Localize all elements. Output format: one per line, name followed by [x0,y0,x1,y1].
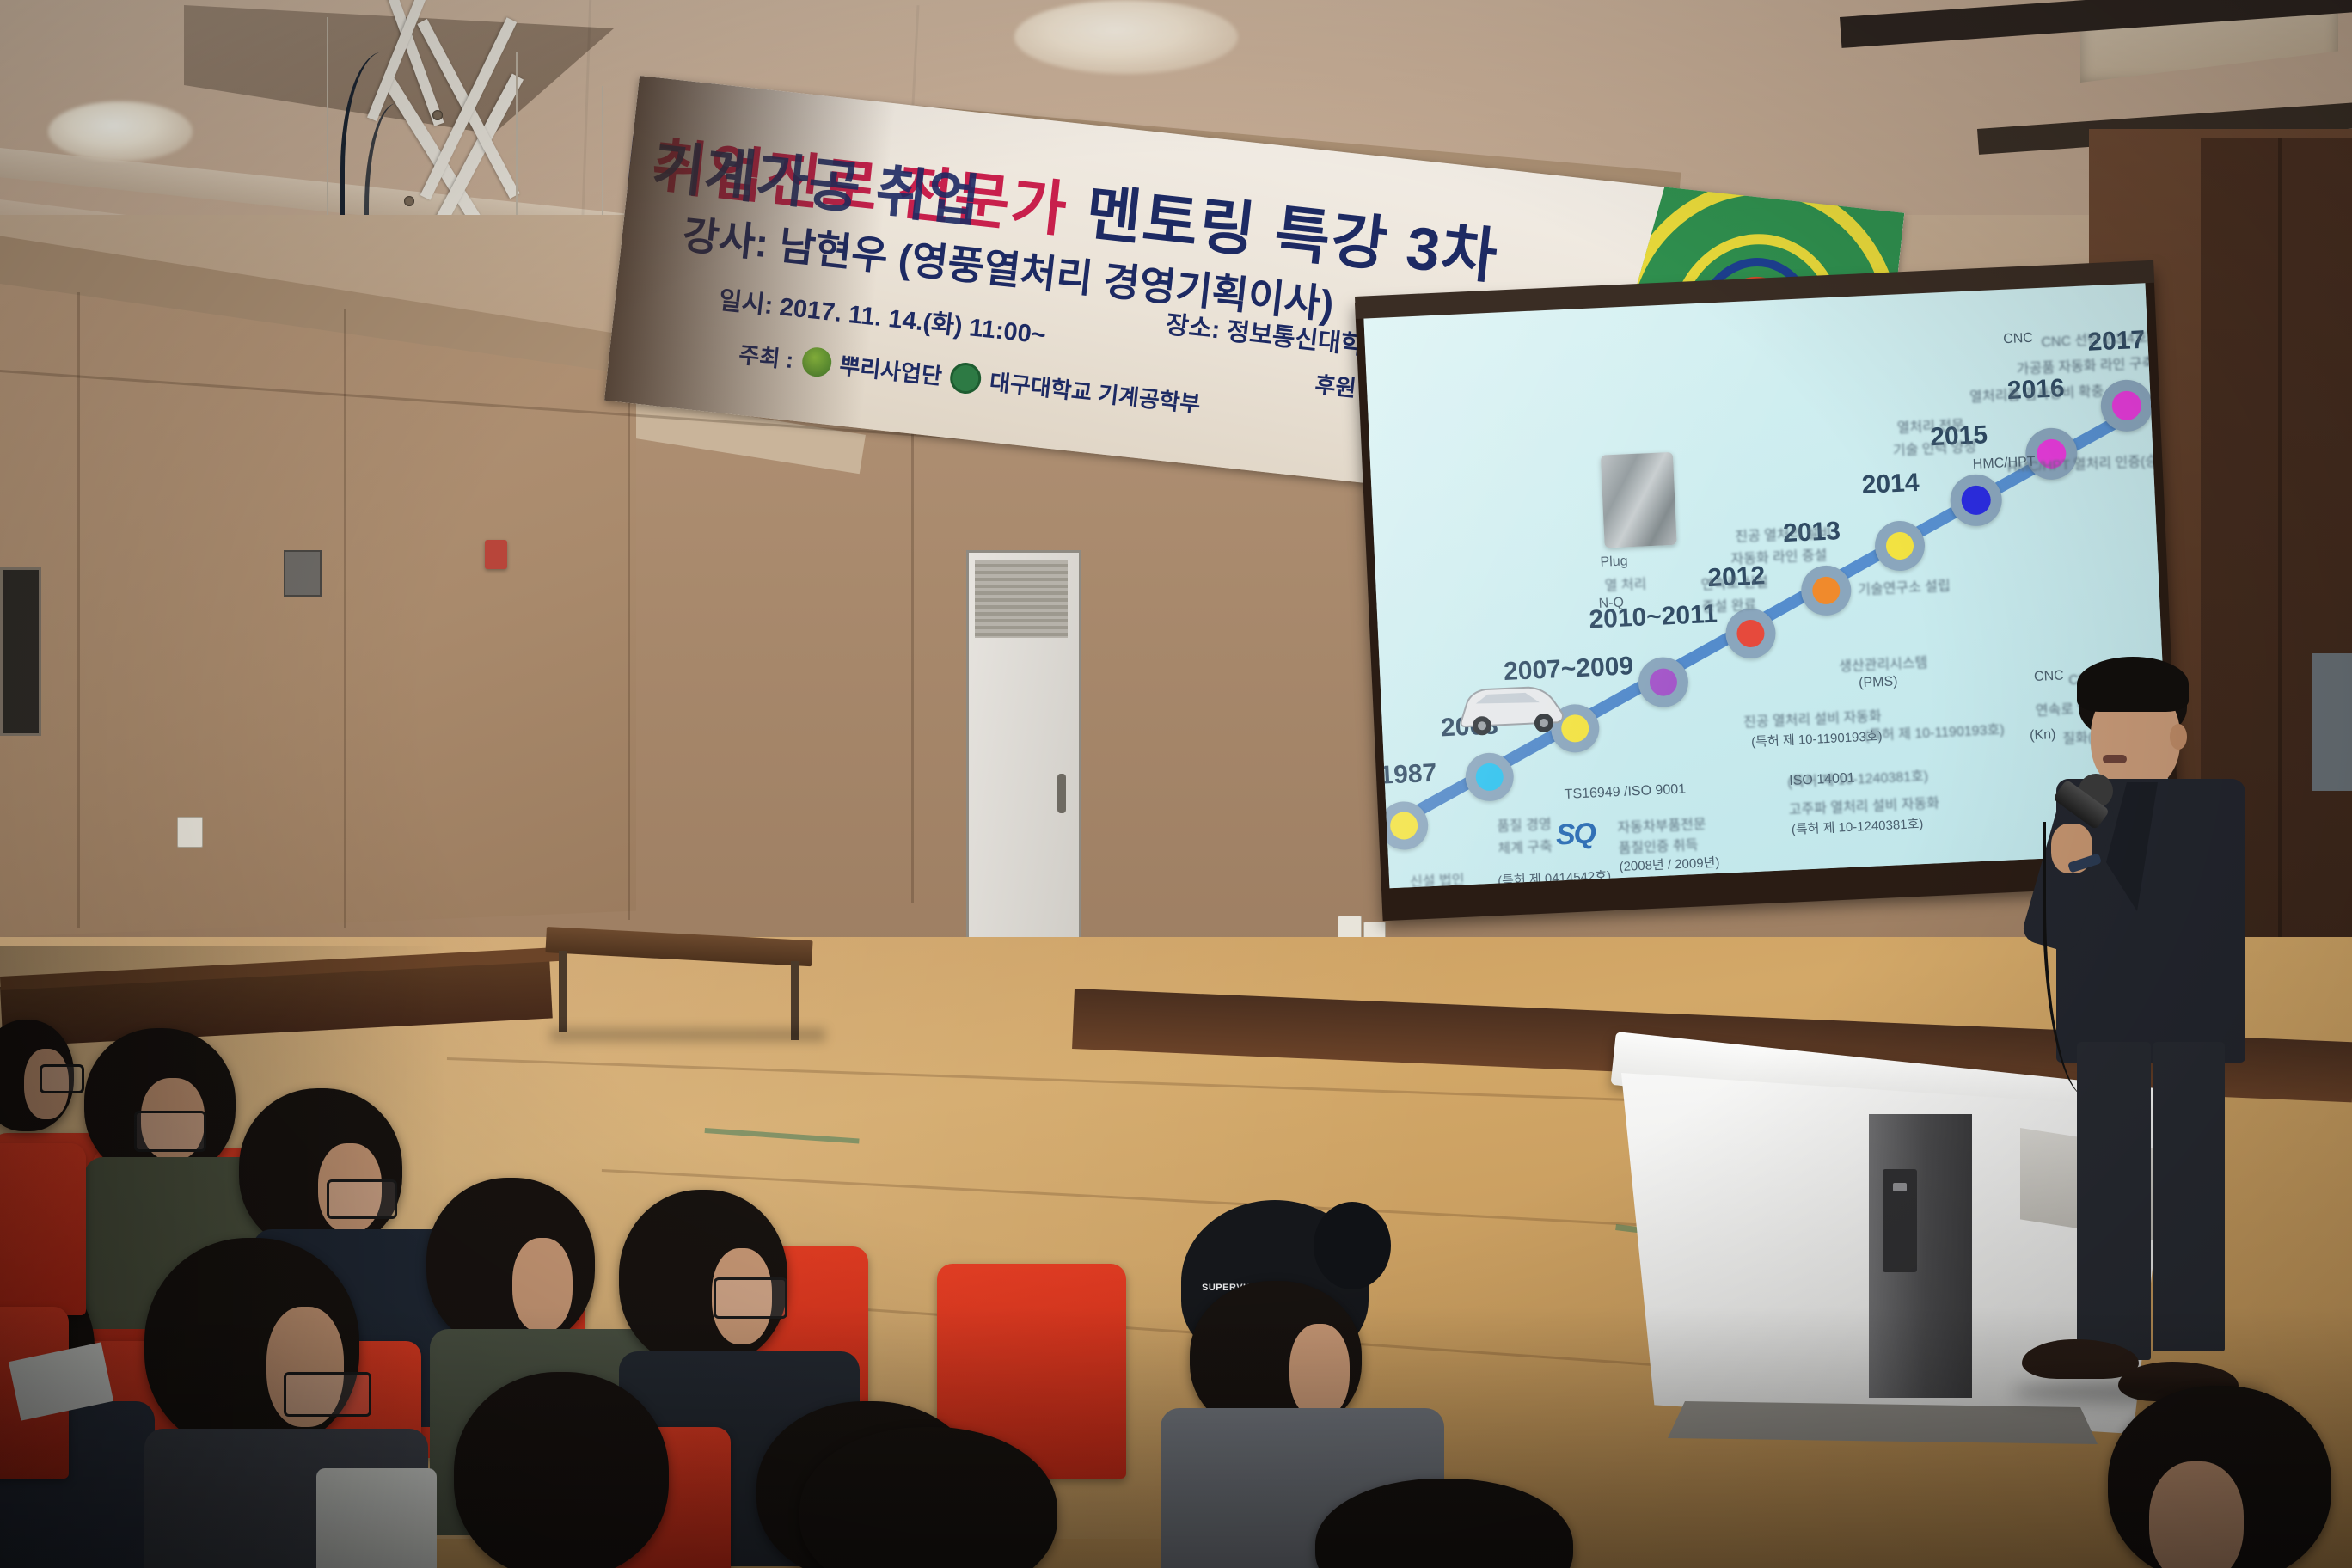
wall-seam-2 [344,309,346,928]
audience-head-9 [454,1372,669,1568]
wall-sign-small [284,550,322,597]
stage-table-shadow [550,1028,825,1042]
speaker-person [1977,653,2352,1410]
speaker-hair-top [2077,657,2189,712]
door-vent [975,560,1068,638]
stage-table-leg-left [559,951,567,1032]
speaker-mouth [2103,755,2127,763]
speaker-right-leg [2153,1042,2225,1351]
audience-glasses-2 [134,1111,206,1152]
ceiling-light-2 [1014,0,1238,74]
speaker-ear [2170,724,2187,750]
audience-face-6 [1289,1324,1350,1418]
host-logo-circle-icon [949,361,983,395]
seat-left-edge-1 [0,1143,86,1315]
ceiling-light-1 [48,101,193,162]
wall-fire-alarm [485,540,507,569]
banner-shadow-left [604,76,896,428]
banner-host-2: 대구대학교 기계공학부 [988,364,1202,419]
audience-glasses-3 [327,1179,397,1219]
wall-seam-3 [628,335,630,920]
door-handle[interactable] [1057,774,1066,813]
audience-glasses-5 [714,1277,787,1319]
audience-shirt-white-8 [316,1468,437,1568]
audience-glasses-8 [284,1372,371,1417]
wall-outlet-left [177,817,203,848]
audience-glasses-1 [40,1064,84,1093]
audience-face-4 [512,1238,573,1332]
speaker-left-leg [2077,1042,2151,1360]
left-wall-panel [0,284,636,937]
audience-face-11 [2149,1461,2244,1568]
wall-frame [0,567,41,736]
podium-button[interactable] [1893,1183,1907,1191]
audience-cap-brim [1314,1202,1391,1289]
wall-seam-1 [77,292,80,928]
photo-scene: 취업진로 전문가 멘토링 특강 3차 제7회 기계가공 취업 강사: 남현우 (… [0,0,2352,1568]
banner-place-label: 장소: [1165,311,1222,345]
